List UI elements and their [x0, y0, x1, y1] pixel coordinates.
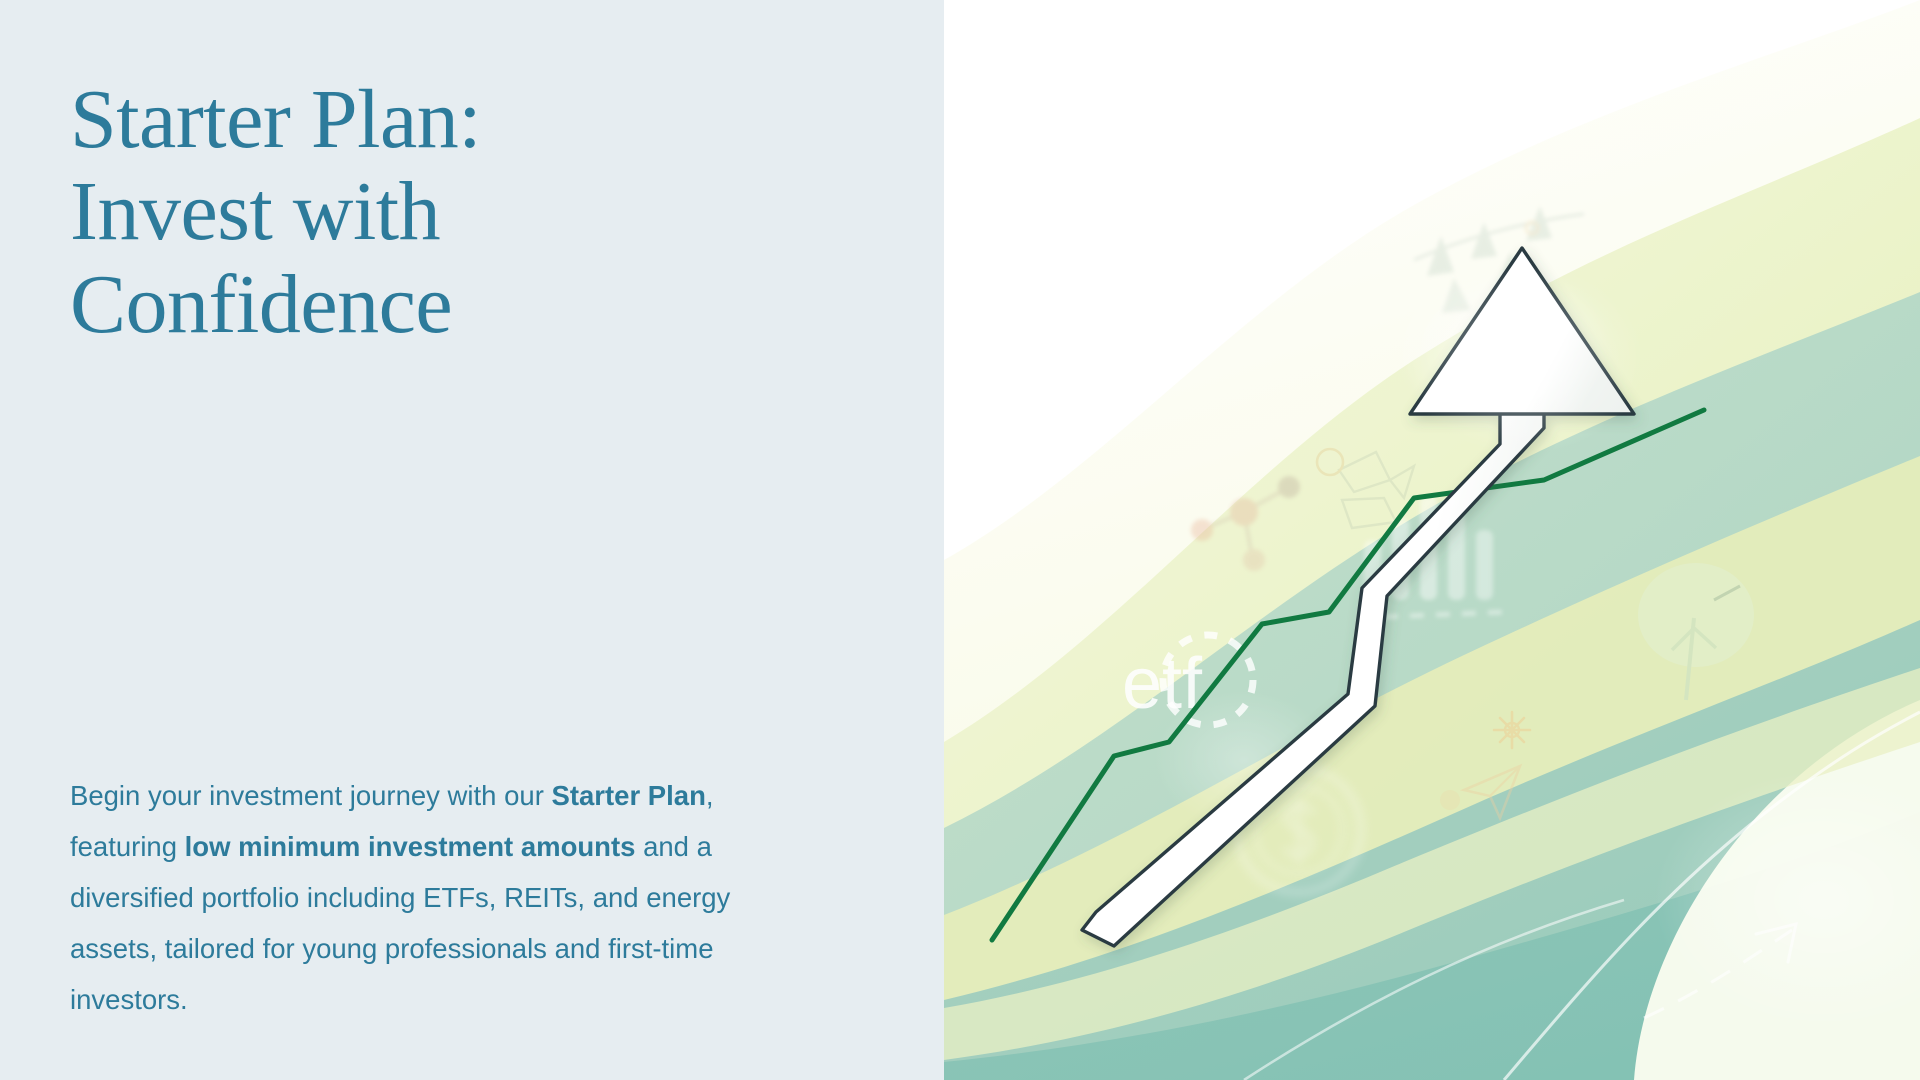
left-text-panel: Starter Plan: Invest with Confidence Beg… [0, 0, 944, 1080]
body-paragraph: Begin your investment journey with our S… [70, 770, 800, 1025]
page-title: Starter Plan: Invest with Confidence [70, 74, 770, 351]
illustration-panel: etf [944, 0, 1920, 1080]
body-emphasis: low minimum investment amounts [185, 831, 636, 862]
arrow-head-glow [1404, 265, 1644, 455]
slide-root: Starter Plan: Invest with Confidence Beg… [0, 0, 1920, 1080]
body-emphasis: Starter Plan [552, 780, 706, 811]
growth-arrow-illustration: etf [944, 0, 1920, 1080]
sparkle-icon [1494, 712, 1530, 748]
body-text: Begin your investment journey with our [70, 780, 552, 811]
